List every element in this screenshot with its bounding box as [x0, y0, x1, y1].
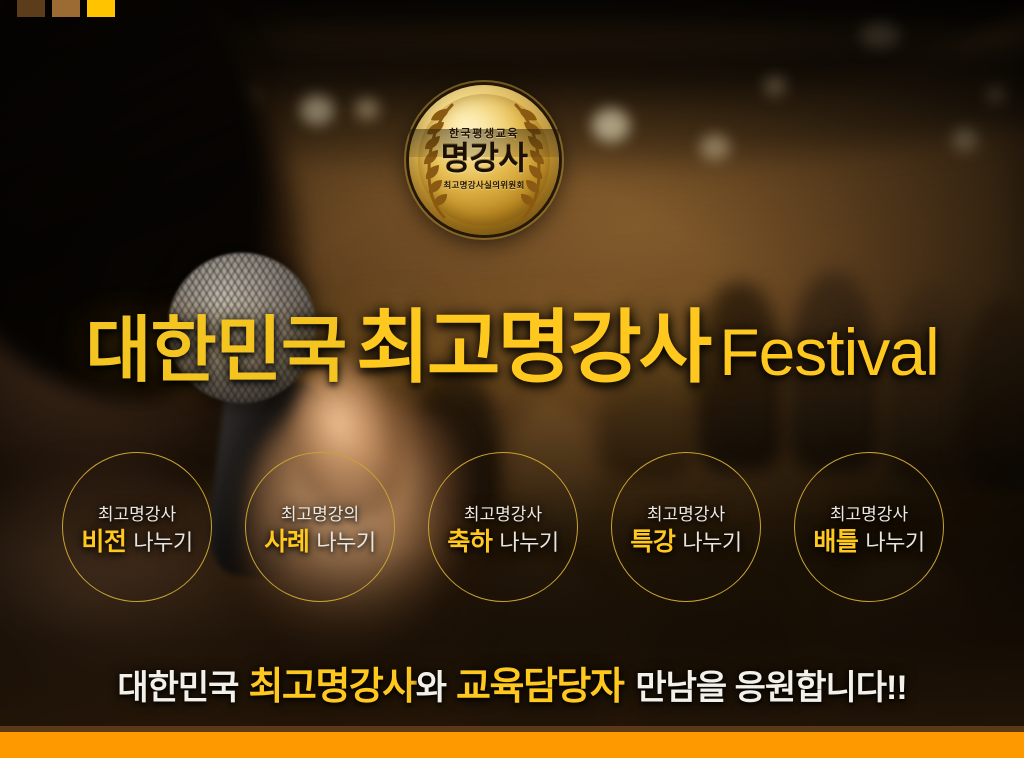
circle-3-bottom-label: 축하나누기	[447, 530, 558, 555]
tagline: 대한민국최고명강사와교육담당자만남을 응원합니다!!	[0, 668, 1024, 706]
circle-5-top-label: 최고명강사	[830, 500, 908, 525]
tagline-seg-country: 대한민국	[117, 669, 238, 707]
square-gold	[87, 0, 115, 17]
circle-5-bottom-label: 배틀나누기	[813, 530, 924, 555]
circle-5-keyword: 배틀	[813, 528, 858, 556]
square-dark-brown	[17, 0, 45, 17]
tagline-seg-highlight-1: 최고명강사	[248, 666, 415, 708]
circle-1-tail: 나누기	[133, 530, 192, 555]
program-circle-3[interactable]: 최고명강사 축하나누기	[428, 452, 578, 602]
circle-4-bottom-label: 특강나누기	[630, 530, 741, 555]
tagline-seg-closing: 만남을 응원합니다!!	[635, 669, 906, 707]
program-circle-5[interactable]: 최고명강사 배틀나누기	[794, 452, 944, 602]
circle-2-keyword: 사례	[264, 528, 309, 556]
gold-medallion-emblem: 한국평생교육 명강사 최고명강사실의위원회	[409, 85, 559, 235]
circle-1-keyword: 비전	[81, 528, 126, 556]
title-part-highlight: 최고명강사	[356, 303, 709, 392]
emblem-top-text: 한국평생교육	[409, 129, 559, 140]
emblem-main-text: 명강사	[409, 142, 559, 174]
promo-banner: 한국평생교육 명강사 최고명강사실의위원회 대한민국최고명강사Festival …	[0, 0, 1024, 758]
circle-4-top-label: 최고명강사	[647, 500, 725, 525]
corner-square-marks	[17, 0, 115, 17]
tagline-seg-particle: 와	[416, 669, 446, 707]
circle-3-tail: 나누기	[499, 530, 558, 555]
circle-2-bottom-label: 사례나누기	[264, 530, 375, 555]
program-circle-1[interactable]: 최고명강사 비전나누기	[62, 452, 212, 602]
title-part-festival: Festival	[719, 315, 938, 389]
circle-1-top-label: 최고명강사	[98, 500, 176, 525]
circle-5-tail: 나누기	[865, 530, 924, 555]
circle-1-bottom-label: 비전나누기	[81, 530, 192, 555]
program-circle-2[interactable]: 최고명강의 사례나누기	[245, 452, 395, 602]
title-part-country: 대한민국	[85, 311, 346, 391]
square-mid-brown	[52, 0, 80, 17]
circle-4-tail: 나누기	[682, 530, 741, 555]
emblem-bottom-text: 최고명강사실의위원회	[409, 181, 559, 190]
circle-3-top-label: 최고명강사	[464, 500, 542, 525]
tagline-seg-highlight-2: 교육담당자	[456, 666, 623, 708]
circle-2-tail: 나누기	[316, 530, 375, 555]
circle-3-keyword: 축하	[447, 528, 492, 556]
footer-accent-bar	[0, 732, 1024, 758]
circle-4-keyword: 특강	[630, 528, 675, 556]
circle-2-top-label: 최고명강의	[281, 500, 359, 525]
program-circles-row: 최고명강사 비전나누기 최고명강의 사례나누기 최고명강사 축하나누기 최고명강…	[0, 452, 1024, 602]
program-circle-4[interactable]: 최고명강사 특강나누기	[611, 452, 761, 602]
main-title: 대한민국최고명강사Festival	[0, 308, 1024, 388]
